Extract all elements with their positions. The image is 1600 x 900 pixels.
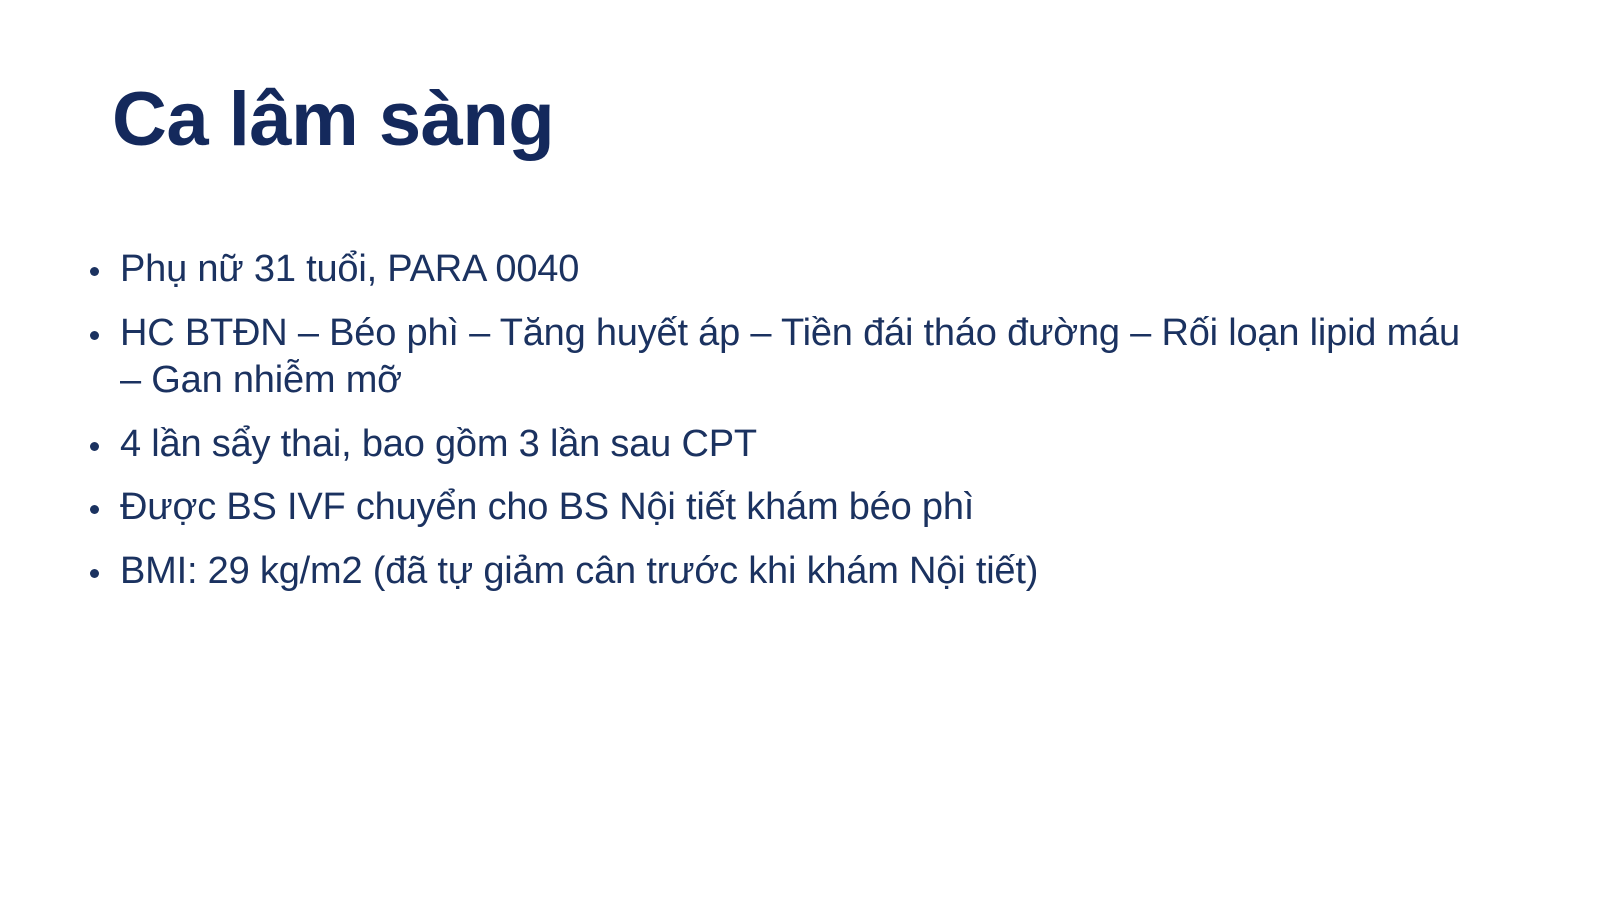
slide: Ca lâm sàng Phụ nữ 31 tuổi, PARA 0040 HC…: [0, 0, 1600, 900]
list-item-label: HC BTĐN – Béo phì – Tăng huyết áp – Tiền…: [120, 310, 1484, 405]
list-item: HC BTĐN – Béo phì – Tăng huyết áp – Tiền…: [84, 310, 1484, 405]
bullet-list: Phụ nữ 31 tuổi, PARA 0040 HC BTĐN – Béo …: [84, 246, 1484, 595]
round-bullet-icon: [90, 331, 99, 340]
list-item: 4 lần sẩy thai, bao gồm 3 lần sau CPT: [84, 421, 1484, 469]
list-item-label: Được BS IVF chuyển cho BS Nội tiết khám …: [120, 484, 1484, 532]
list-item-label: BMI: 29 kg/m2 (đã tự giảm cân trước khi …: [120, 548, 1484, 596]
slide-body: Phụ nữ 31 tuổi, PARA 0040 HC BTĐN – Béo …: [84, 246, 1484, 595]
list-item: Được BS IVF chuyển cho BS Nội tiết khám …: [84, 484, 1484, 532]
list-item-label: Phụ nữ 31 tuổi, PARA 0040: [120, 246, 1484, 294]
list-item: BMI: 29 kg/m2 (đã tự giảm cân trước khi …: [84, 548, 1484, 596]
round-bullet-icon: [90, 569, 99, 578]
list-item: Phụ nữ 31 tuổi, PARA 0040: [84, 246, 1484, 294]
round-bullet-icon: [90, 442, 99, 451]
page-title: Ca lâm sàng: [112, 82, 1512, 158]
round-bullet-icon: [90, 267, 99, 276]
list-item-label: 4 lần sẩy thai, bao gồm 3 lần sau CPT: [120, 421, 1484, 469]
round-bullet-icon: [90, 505, 99, 514]
